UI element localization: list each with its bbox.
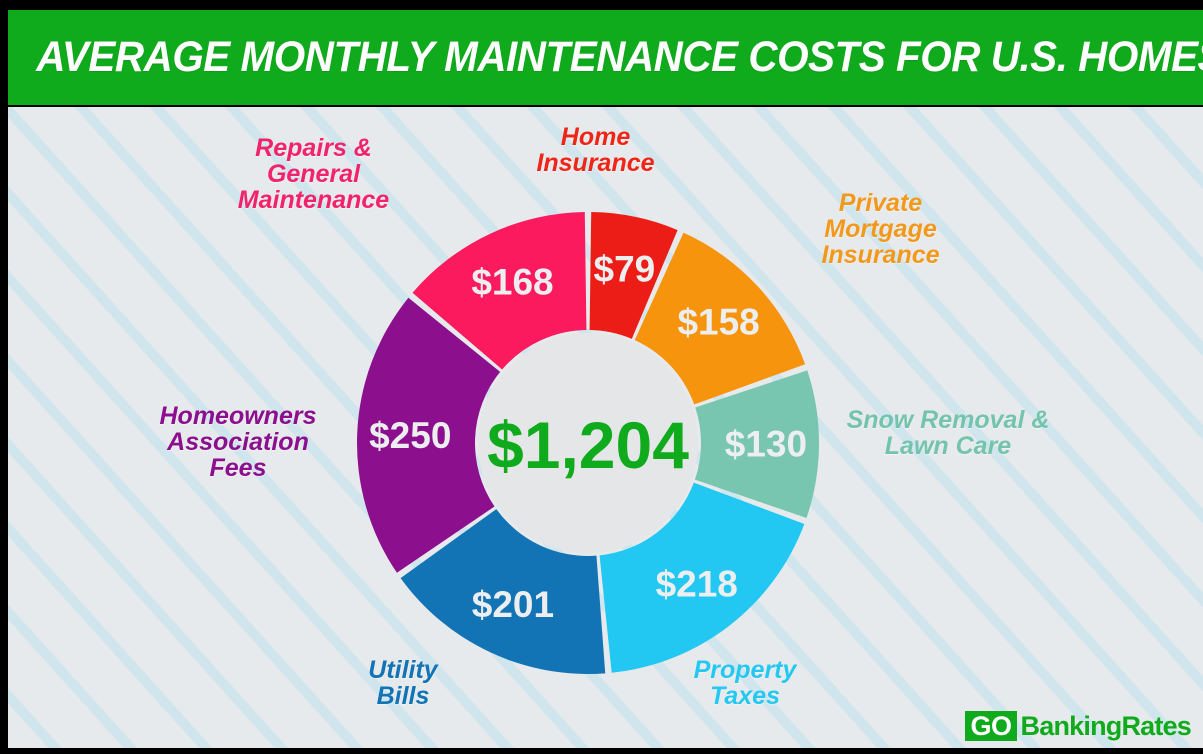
category-label-property-taxes: Property Taxes xyxy=(630,657,860,709)
logo-wordmark: BankingRates xyxy=(1017,711,1191,741)
header-band: AVERAGE MONTHLY MAINTENANCE COSTS FOR U.… xyxy=(8,10,1203,105)
gobankingrates-logo: GO BankingRates xyxy=(965,710,1191,742)
category-label-home-insurance: Home Insurance xyxy=(488,124,703,176)
logo-go-badge: GO xyxy=(965,711,1017,741)
category-label-utility-bills: Utility Bills xyxy=(308,657,498,709)
infographic-root: AVERAGE MONTHLY MAINTENANCE COSTS FOR U.… xyxy=(0,0,1203,754)
slice-value-property-taxes: $218 xyxy=(656,563,738,604)
slice-value-home-insurance: $79 xyxy=(594,248,656,289)
slice-value-snow-removal-lawn-care: $130 xyxy=(725,423,807,464)
slice-value-repairs-general-maintenance: $168 xyxy=(471,261,553,302)
slice-value-private-mortgage-insurance: $158 xyxy=(677,302,759,343)
chart-canvas: $79$158$130$218$201$250$168 $1,204 Repai… xyxy=(8,107,1203,748)
category-label-snow-removal-lawn-care: Snow Removal & Lawn Care xyxy=(818,407,1078,459)
center-total-value: $1,204 xyxy=(487,408,689,482)
category-label-hoa-fees: Homeowners Association Fees xyxy=(138,403,338,481)
page-title: AVERAGE MONTHLY MAINTENANCE COSTS FOR U.… xyxy=(8,33,1203,82)
category-label-repairs: Repairs & General Maintenance xyxy=(196,135,431,213)
slice-value-homeowners-association-fees: $250 xyxy=(369,415,451,456)
slice-value-utility-bills: $201 xyxy=(472,584,554,625)
category-label-private-mortgage-insurance: Private Mortgage Insurance xyxy=(778,190,983,268)
